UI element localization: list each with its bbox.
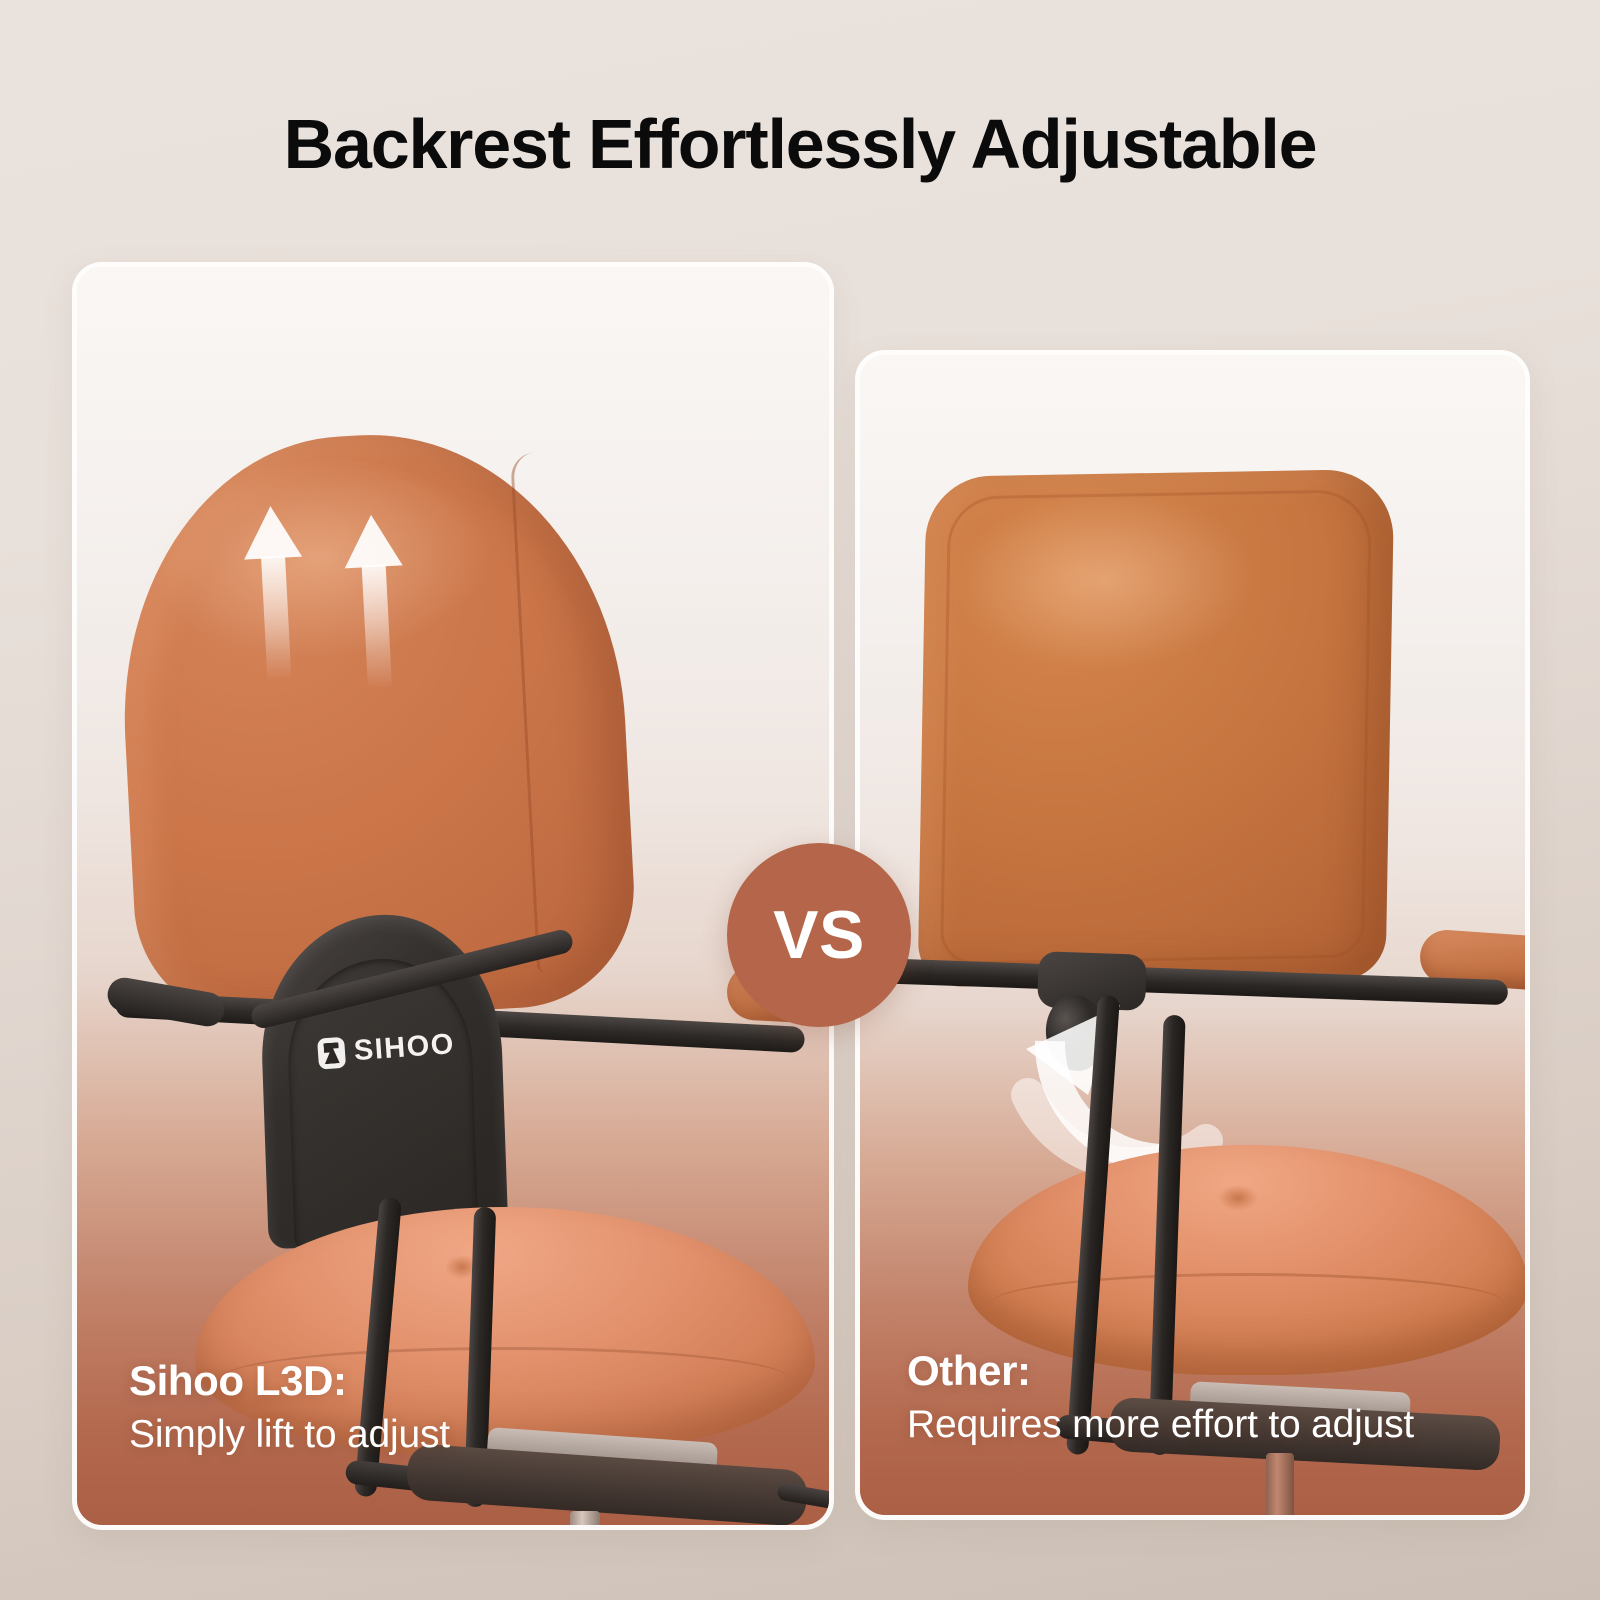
left-backrest-highlight bbox=[145, 449, 495, 667]
sihoo-wordmark: SIHOO bbox=[353, 1028, 456, 1068]
right-caption: Other: Requires more effort to adjust bbox=[907, 1347, 1414, 1450]
right-backrest-seam bbox=[940, 489, 1372, 965]
left-chair-gas-cylinder bbox=[570, 1511, 600, 1530]
left-caption-sub: Simply lift to adjust bbox=[129, 1411, 450, 1460]
left-caption-head: Sihoo L3D: bbox=[129, 1357, 450, 1405]
comparison-card-sihoo: SIHOO Sihoo L3D: Simpl bbox=[72, 262, 834, 1530]
left-scene-background: SIHOO bbox=[77, 267, 829, 1525]
comparison-card-other: Other: Requires more effort to adjust bbox=[855, 350, 1530, 1520]
up-arrow-icon bbox=[241, 505, 308, 678]
left-caption: Sihoo L3D: Simply lift to adjust bbox=[129, 1357, 450, 1460]
left-backrest-seam bbox=[510, 450, 600, 973]
right-seat-tuft bbox=[1218, 1185, 1258, 1211]
right-chair-gas-cylinder bbox=[1266, 1453, 1294, 1520]
arrow-stem bbox=[362, 564, 392, 687]
right-caption-sub: Requires more effort to adjust bbox=[907, 1401, 1414, 1450]
arrow-stem bbox=[261, 555, 291, 678]
sihoo-mark-icon bbox=[317, 1037, 346, 1070]
arrow-head bbox=[241, 505, 302, 560]
arrow-head bbox=[342, 513, 403, 568]
up-arrow-icon bbox=[342, 513, 409, 686]
right-chair-backrest bbox=[918, 469, 1395, 987]
right-seat-seam bbox=[992, 1273, 1504, 1332]
vs-badge: VS bbox=[727, 843, 911, 1027]
right-caption-head: Other: bbox=[907, 1347, 1414, 1395]
product-comparison-poster: Backrest Effortlessly Adjustable bbox=[0, 0, 1600, 1600]
vs-badge-label: VS bbox=[773, 896, 865, 974]
right-scene-background bbox=[860, 355, 1525, 1515]
page-title: Backrest Effortlessly Adjustable bbox=[0, 104, 1600, 184]
